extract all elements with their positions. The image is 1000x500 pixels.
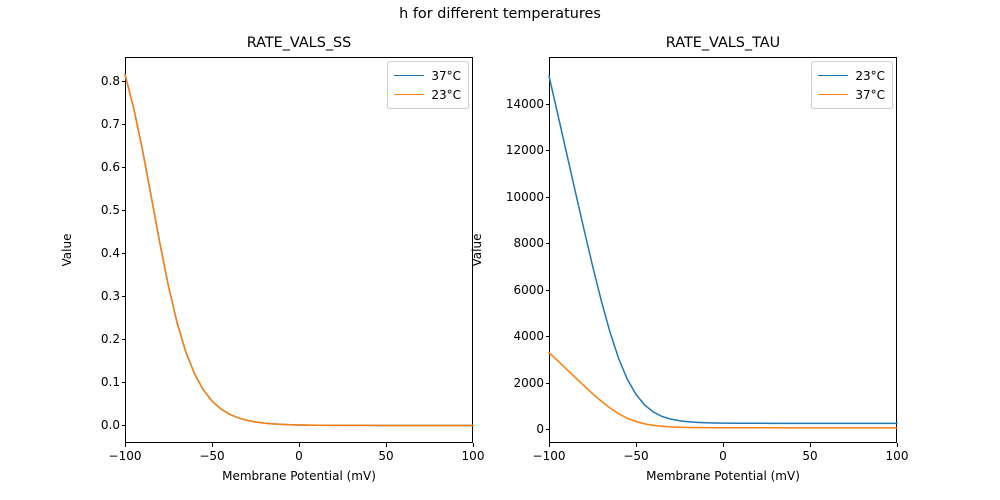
ytick-mark [122, 425, 126, 426]
ytick-mark [122, 81, 126, 82]
ytick-mark [546, 243, 550, 244]
axes-title-left: RATE_VALS_SS [125, 35, 473, 51]
ylabel-right: Value [470, 234, 484, 267]
xtick-mark [810, 443, 811, 447]
ytick-label: 10000 [506, 190, 544, 204]
xtick-mark [723, 443, 724, 447]
axes-rate-vals-ss: RATE_VALS_SS Value Membrane Potential (m… [125, 57, 473, 443]
series-line-23C [549, 76, 897, 423]
axes-rate-vals-tau: RATE_VALS_TAU Value Membrane Potential (… [549, 57, 897, 443]
ytick-mark [122, 124, 126, 125]
ytick-label: 0.3 [101, 289, 120, 303]
xtick-label: 100 [462, 449, 485, 463]
xtick-label: 50 [802, 449, 817, 463]
xtick-label: 100 [886, 449, 909, 463]
xtick-label: −50 [199, 449, 224, 463]
ytick-mark [122, 253, 126, 254]
legend-label: 37°C [431, 69, 461, 83]
xtick-label: −100 [533, 449, 566, 463]
legend-swatch-line [818, 94, 848, 95]
ytick-mark [546, 104, 550, 105]
ytick-label: 4000 [513, 329, 544, 343]
figure-suptitle: h for different temperatures [0, 5, 1000, 23]
ytick-mark [546, 383, 550, 384]
ytick-label: 0.4 [101, 246, 120, 260]
legend-label: 23°C [431, 88, 461, 102]
xtick-mark [897, 443, 898, 447]
legend-entry[interactable]: 37°C [818, 85, 885, 104]
ytick-mark [546, 429, 550, 430]
xtick-mark [386, 443, 387, 447]
xtick-label: 0 [719, 449, 727, 463]
ytick-mark [122, 382, 126, 383]
ytick-label: 2000 [513, 376, 544, 390]
ytick-mark [122, 296, 126, 297]
legend-swatch-line [818, 75, 848, 76]
xlabel-left: Membrane Potential (mV) [125, 469, 473, 483]
ytick-mark [546, 290, 550, 291]
legend-swatch-line [394, 94, 424, 95]
xtick-mark [125, 443, 126, 447]
legend-right[interactable]: 23°C37°C [811, 61, 893, 109]
xtick-mark [473, 443, 474, 447]
ytick-label: 0.2 [101, 332, 120, 346]
ytick-label: 6000 [513, 283, 544, 297]
plot-curves-right [549, 57, 897, 443]
xlabel-right: Membrane Potential (mV) [549, 469, 897, 483]
legend-entry[interactable]: 23°C [818, 66, 885, 85]
xtick-label: −100 [109, 449, 142, 463]
ytick-label: 0 [536, 422, 544, 436]
ytick-label: 14000 [506, 97, 544, 111]
ytick-label: 0.8 [101, 74, 120, 88]
ytick-label: 8000 [513, 236, 544, 250]
xtick-label: −50 [623, 449, 648, 463]
axes-title-right: RATE_VALS_TAU [549, 35, 897, 51]
ytick-label: 0.0 [101, 418, 120, 432]
legend-entry[interactable]: 37°C [394, 66, 461, 85]
xtick-mark [549, 443, 550, 447]
legend-label: 37°C [855, 88, 885, 102]
legend-entry[interactable]: 23°C [394, 85, 461, 104]
ytick-mark [122, 167, 126, 168]
xtick-mark [299, 443, 300, 447]
xtick-mark [636, 443, 637, 447]
legend-left[interactable]: 37°C23°C [387, 61, 469, 109]
series-line-23C [125, 75, 473, 426]
ytick-mark [122, 339, 126, 340]
ytick-label: 0.5 [101, 203, 120, 217]
ytick-label: 0.7 [101, 117, 120, 131]
ytick-mark [546, 150, 550, 151]
ytick-mark [546, 336, 550, 337]
ytick-mark [122, 210, 126, 211]
xtick-label: 0 [295, 449, 303, 463]
ytick-mark [546, 197, 550, 198]
xtick-mark [212, 443, 213, 447]
ylabel-left: Value [60, 234, 74, 267]
legend-swatch-line [394, 75, 424, 76]
xtick-label: 50 [378, 449, 393, 463]
series-line-37C [125, 74, 473, 425]
matplotlib-figure: h for different temperatures RATE_VALS_S… [0, 0, 1000, 500]
legend-label: 23°C [855, 69, 885, 83]
plot-curves-left [125, 57, 473, 443]
ytick-label: 0.1 [101, 375, 120, 389]
ytick-label: 0.6 [101, 160, 120, 174]
ytick-label: 12000 [506, 143, 544, 157]
series-line-37C [549, 353, 897, 428]
